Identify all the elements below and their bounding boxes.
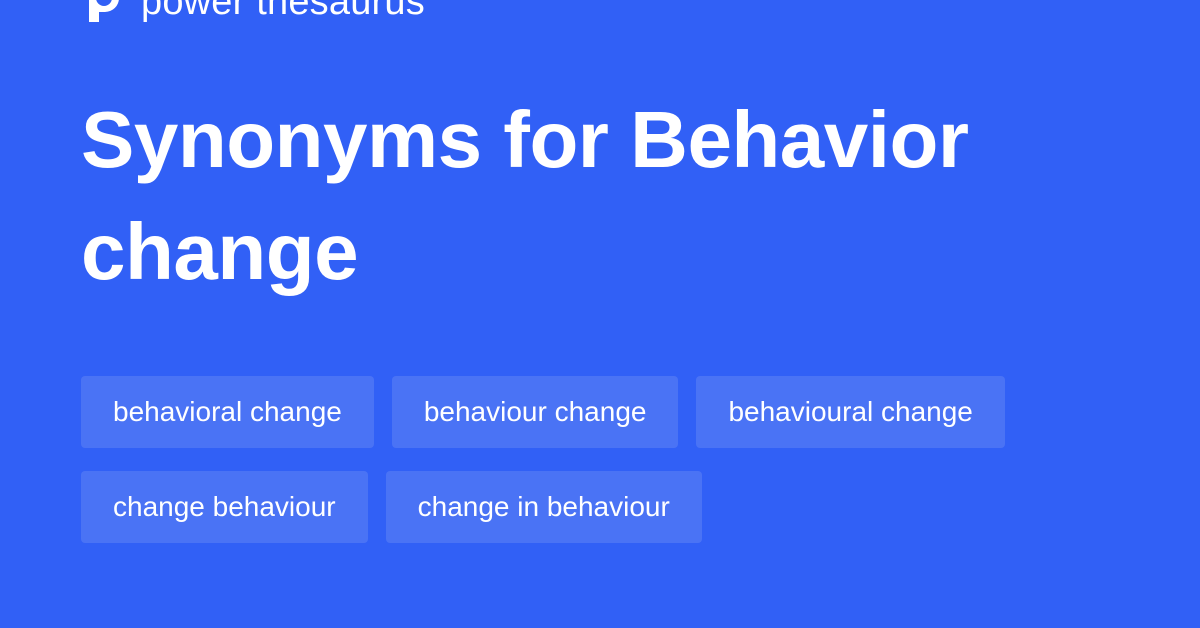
page-title: Synonyms for Behavior change: [81, 84, 1081, 308]
share-card: power thesaurus Synonyms for Behavior ch…: [0, 0, 1200, 628]
synonym-chip[interactable]: change behaviour: [81, 471, 368, 543]
synonym-chip[interactable]: behaviour change: [392, 376, 679, 448]
brand-logo[interactable]: power thesaurus: [81, 0, 425, 28]
brand-name: power thesaurus: [141, 0, 425, 24]
synonym-chip[interactable]: behavioral change: [81, 376, 374, 448]
synonym-chip[interactable]: behavioural change: [696, 376, 1004, 448]
synonym-chip-list: behavioral change behaviour change behav…: [81, 376, 1141, 543]
synonym-chip[interactable]: change in behaviour: [386, 471, 702, 543]
power-thesaurus-p-logo-icon: [81, 0, 125, 24]
